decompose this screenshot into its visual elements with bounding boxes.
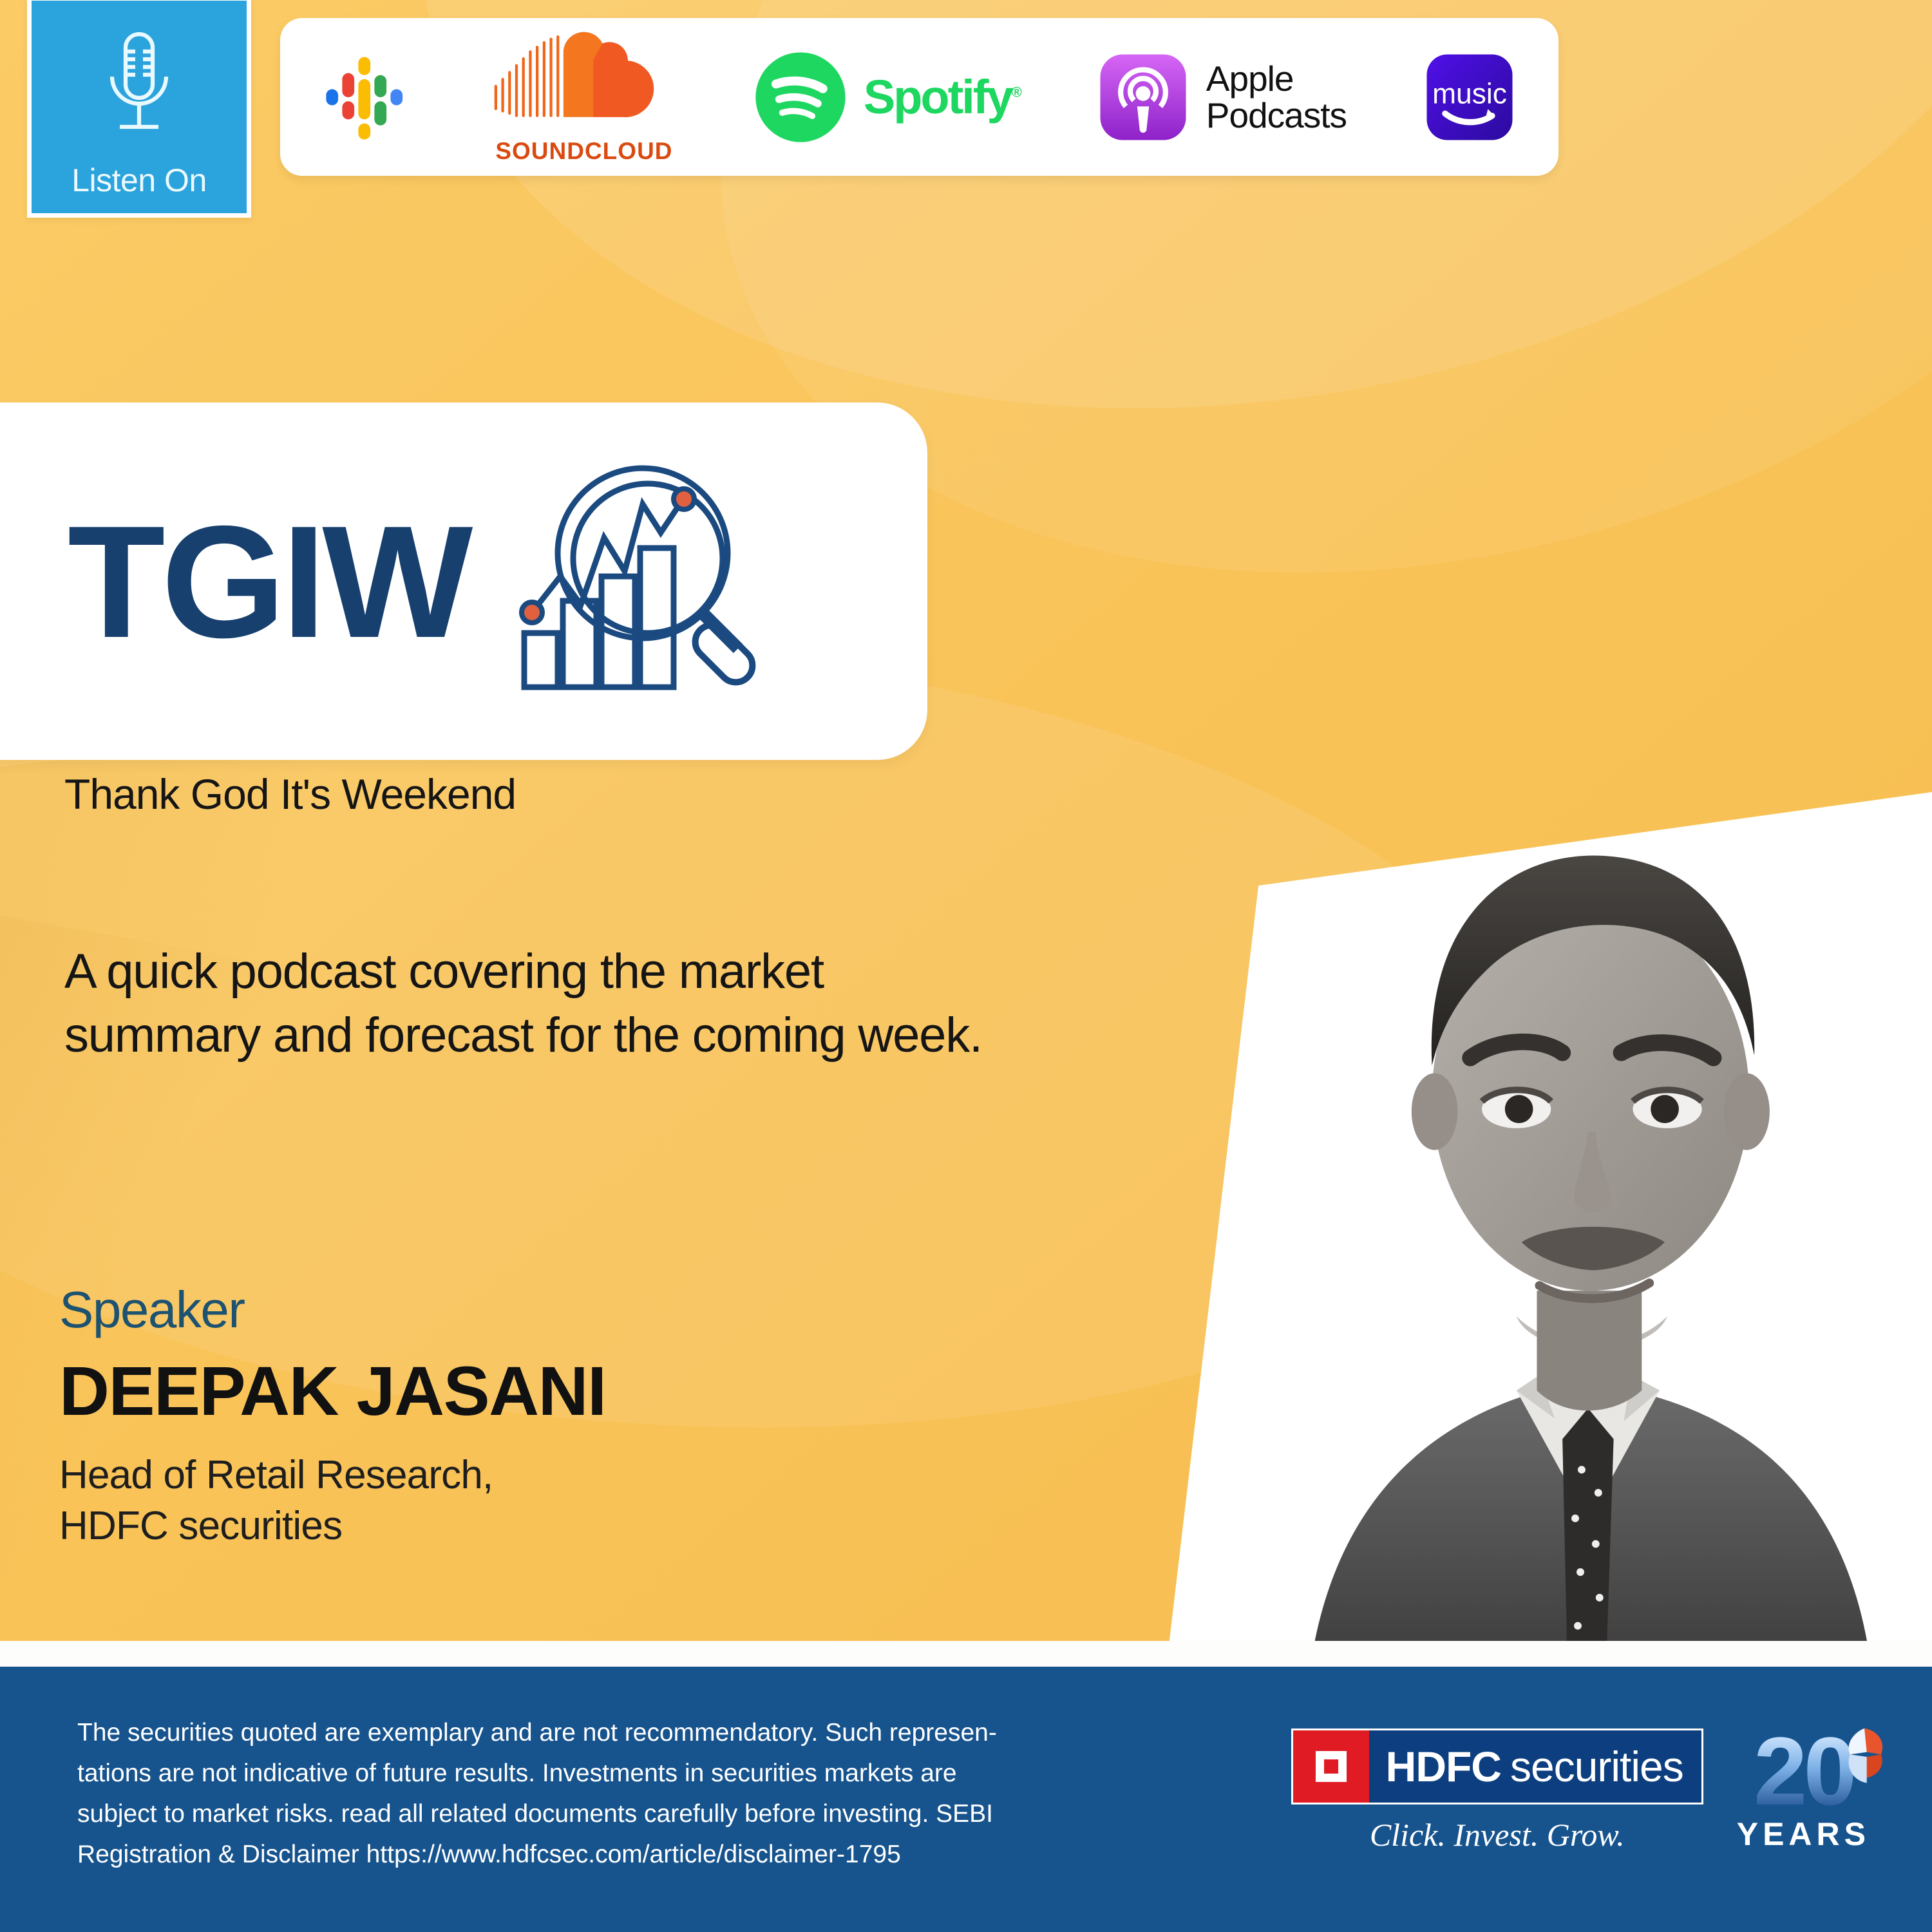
platform-apple-podcasts[interactable]: Apple Podcasts (1094, 48, 1347, 146)
platform-soundcloud[interactable]: SOUNDCLOUD (491, 30, 677, 165)
hdfc-securities-logo: HDFC securities Click. Invest. Grow. (1291, 1728, 1703, 1853)
soundcloud-icon (491, 30, 677, 126)
soundcloud-label: SOUNDCLOUD (495, 138, 672, 165)
platform-google-podcasts[interactable] (320, 49, 417, 146)
anniversary-number-text: 20 (1754, 1717, 1853, 1825)
tagline: Thank God It's Weekend (64, 770, 516, 819)
market-analysis-magnifier-icon (501, 453, 772, 710)
speaker-label: Speaker (59, 1282, 606, 1338)
tgiw-brand-card: TGIW (0, 402, 927, 760)
apple-podcasts-label: Apple Podcasts (1206, 61, 1347, 133)
hdfc-wordmark-bold: HDFC (1386, 1742, 1501, 1791)
platform-spotify[interactable]: Spotify® (752, 48, 1020, 146)
speaker-block: Speaker DEEPAK JASANI Head of Retail Res… (59, 1282, 606, 1552)
anniversary-number: 20 (1754, 1730, 1853, 1813)
hdfc-tagline: Click. Invest. Grow. (1370, 1816, 1625, 1853)
spotify-registered-mark: ® (1012, 84, 1020, 100)
tgiw-title: TGIW (68, 502, 469, 661)
google-podcasts-icon (320, 49, 417, 146)
spotify-icon (752, 48, 849, 146)
listen-on-badge-inner: Listen On (32, 1, 247, 213)
footer: The securities quoted are exemplary and … (0, 1667, 1932, 1932)
microphone-icon (91, 26, 187, 162)
spotify-wordmark: Spotify (864, 70, 1012, 124)
footer-brand: HDFC securities Click. Invest. Grow. 20 (1291, 1728, 1870, 1853)
hdfc-logo-box: HDFC securities (1291, 1728, 1703, 1804)
listen-on-badge[interactable]: Listen On (27, 0, 251, 218)
hdfc-square-mark-icon (1293, 1730, 1369, 1803)
hdfc-wordmark-light: securities (1510, 1742, 1683, 1791)
anniversary-swirl-icon (1841, 1726, 1888, 1788)
amazon-music-icon: music (1421, 48, 1519, 146)
speaker-portrait (1217, 792, 1932, 1642)
speaker-title: Head of Retail Research, HDFC securities (59, 1450, 606, 1552)
speaker-name: DEEPAK JASANI (59, 1347, 606, 1434)
description: A quick podcast covering the market summ… (64, 940, 1121, 1068)
disclaimer-text: The securities quoted are exemplary and … (77, 1712, 997, 1875)
anniversary-badge: 20 YEARS (1737, 1730, 1870, 1853)
spotify-label: Spotify® (864, 70, 1020, 124)
platform-amazon-music[interactable]: music (1421, 48, 1519, 146)
platform-bar: SOUNDCLOUD Spotify® (280, 18, 1558, 176)
listen-on-label: Listen On (71, 164, 207, 196)
poster-canvas: Listen On (0, 0, 1932, 1932)
hdfc-wordmark: HDFC securities (1369, 1730, 1701, 1803)
footer-divider (0, 1641, 1932, 1667)
svg-text:music: music (1432, 78, 1507, 109)
apple-podcasts-icon (1094, 48, 1192, 146)
